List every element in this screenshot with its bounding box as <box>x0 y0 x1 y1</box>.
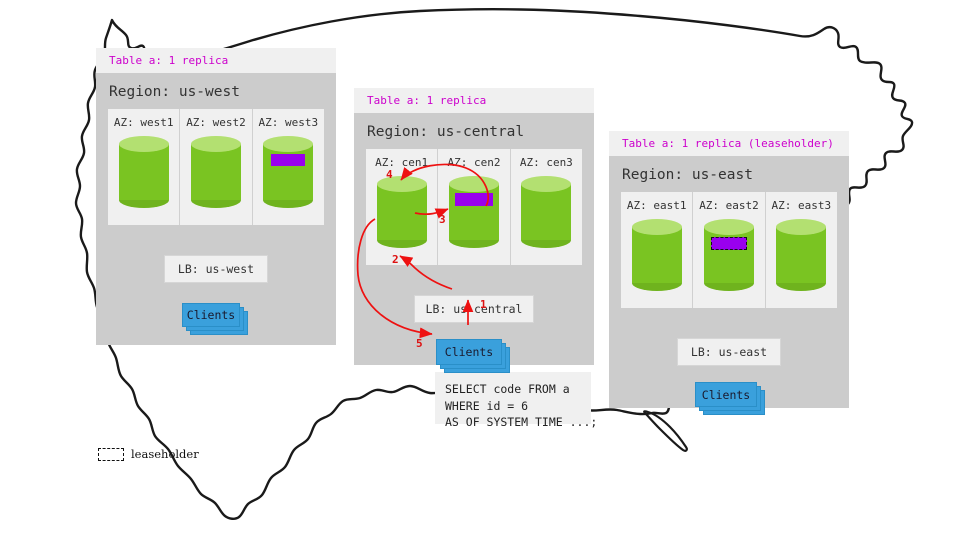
az-row-us-west: AZ: west1 AZ: west2 AZ <box>108 109 324 225</box>
replica-marker-east2-leaseholder <box>711 237 747 250</box>
flow-step-label-3: 3 <box>439 213 446 226</box>
cylinder-top <box>521 176 571 192</box>
cylinder-body <box>521 184 571 240</box>
az-row-us-central: AZ: cen1 AZ: cen2 <box>366 149 582 265</box>
clients-stack-us-west[interactable]: Clients <box>182 303 250 337</box>
clients-label-us-east[interactable]: Clients <box>695 382 757 407</box>
load-balancer-us-central[interactable]: LB: us-central <box>414 295 534 323</box>
az-cell-cen1[interactable]: AZ: cen1 <box>366 149 437 265</box>
az-label-west3: AZ: west3 <box>253 116 324 129</box>
load-balancer-us-east[interactable]: LB: us-east <box>677 338 781 366</box>
az-cell-west1[interactable]: AZ: west1 <box>108 109 179 225</box>
dashed-rect-icon <box>98 448 124 461</box>
replica-banner-us-east: Table a: 1 replica (leaseholder) <box>609 131 849 156</box>
clients-label-us-central[interactable]: Clients <box>436 339 502 365</box>
node-cylinder-west3[interactable] <box>263 136 313 208</box>
cylinder-top <box>377 176 427 192</box>
replica-banner-us-west: Table a: 1 replica <box>96 48 336 73</box>
node-cylinder-west1[interactable] <box>119 136 169 208</box>
region-panel-us-central: Table a: 1 replica Region: us-central AZ… <box>354 88 594 365</box>
cylinder-top <box>119 136 169 152</box>
legend-label: leaseholder <box>131 447 199 461</box>
cylinder-body <box>191 144 241 200</box>
legend: leaseholder <box>98 447 199 461</box>
cylinder-body <box>263 144 313 200</box>
flow-step-label-5: 5 <box>416 337 423 350</box>
region-title-us-west: Region: us-west <box>96 73 336 100</box>
cylinder-top <box>632 219 682 235</box>
flow-step-label-2: 2 <box>392 253 399 266</box>
az-cell-west2[interactable]: AZ: west2 <box>179 109 251 225</box>
node-cylinder-cen1[interactable] <box>377 176 427 248</box>
replica-banner-us-central: Table a: 1 replica <box>354 88 594 113</box>
az-cell-east3[interactable]: AZ: east3 <box>765 192 837 308</box>
cylinder-top <box>449 176 499 192</box>
az-row-us-east: AZ: east1 AZ: east2 <box>621 192 837 308</box>
clients-stack-us-central[interactable]: Clients <box>436 339 514 375</box>
az-cell-cen2[interactable]: AZ: cen2 <box>437 149 509 265</box>
cylinder-body <box>377 184 427 240</box>
cylinder-top <box>704 219 754 235</box>
clients-stack-us-east[interactable]: Clients <box>695 382 767 416</box>
node-cylinder-east1[interactable] <box>632 219 682 291</box>
az-cell-west3[interactable]: AZ: west3 <box>252 109 324 225</box>
cylinder-body <box>776 227 826 283</box>
region-panel-us-east: Table a: 1 replica (leaseholder) Region:… <box>609 131 849 408</box>
node-cylinder-cen2[interactable] <box>449 176 499 248</box>
cylinder-body <box>632 227 682 283</box>
flow-step-label-1: 1 <box>480 298 487 311</box>
az-label-cen3: AZ: cen3 <box>511 156 582 169</box>
cylinder-top <box>263 136 313 152</box>
flow-step-label-4: 4 <box>386 168 393 181</box>
az-label-cen1: AZ: cen1 <box>366 156 437 169</box>
az-cell-cen3[interactable]: AZ: cen3 <box>510 149 582 265</box>
region-panel-us-west: Table a: 1 replica Region: us-west AZ: w… <box>96 48 336 345</box>
node-cylinder-east2[interactable] <box>704 219 754 291</box>
node-cylinder-cen3[interactable] <box>521 176 571 248</box>
clients-label-us-west[interactable]: Clients <box>182 303 240 327</box>
az-label-east1: AZ: east1 <box>621 199 692 212</box>
node-cylinder-east3[interactable] <box>776 219 826 291</box>
load-balancer-us-west[interactable]: LB: us-west <box>164 255 268 283</box>
node-cylinder-west2[interactable] <box>191 136 241 208</box>
az-label-east3: AZ: east3 <box>766 199 837 212</box>
region-title-us-east: Region: us-east <box>609 156 849 183</box>
az-label-west2: AZ: west2 <box>180 116 251 129</box>
az-cell-east2[interactable]: AZ: east2 <box>692 192 764 308</box>
cylinder-body <box>119 144 169 200</box>
replica-marker-west3 <box>271 154 305 166</box>
az-label-west1: AZ: west1 <box>108 116 179 129</box>
region-title-us-central: Region: us-central <box>354 113 594 140</box>
cylinder-top <box>776 219 826 235</box>
cylinder-top <box>191 136 241 152</box>
sql-query-note: SELECT code FROM a WHERE id = 6 AS OF SY… <box>435 372 591 424</box>
cylinder-body <box>704 227 754 283</box>
az-cell-east1[interactable]: AZ: east1 <box>621 192 692 308</box>
replica-marker-cen2 <box>455 193 493 206</box>
az-label-east2: AZ: east2 <box>693 199 764 212</box>
az-label-cen2: AZ: cen2 <box>438 156 509 169</box>
diagram-canvas: Table a: 1 replica Region: us-west AZ: w… <box>0 0 960 540</box>
